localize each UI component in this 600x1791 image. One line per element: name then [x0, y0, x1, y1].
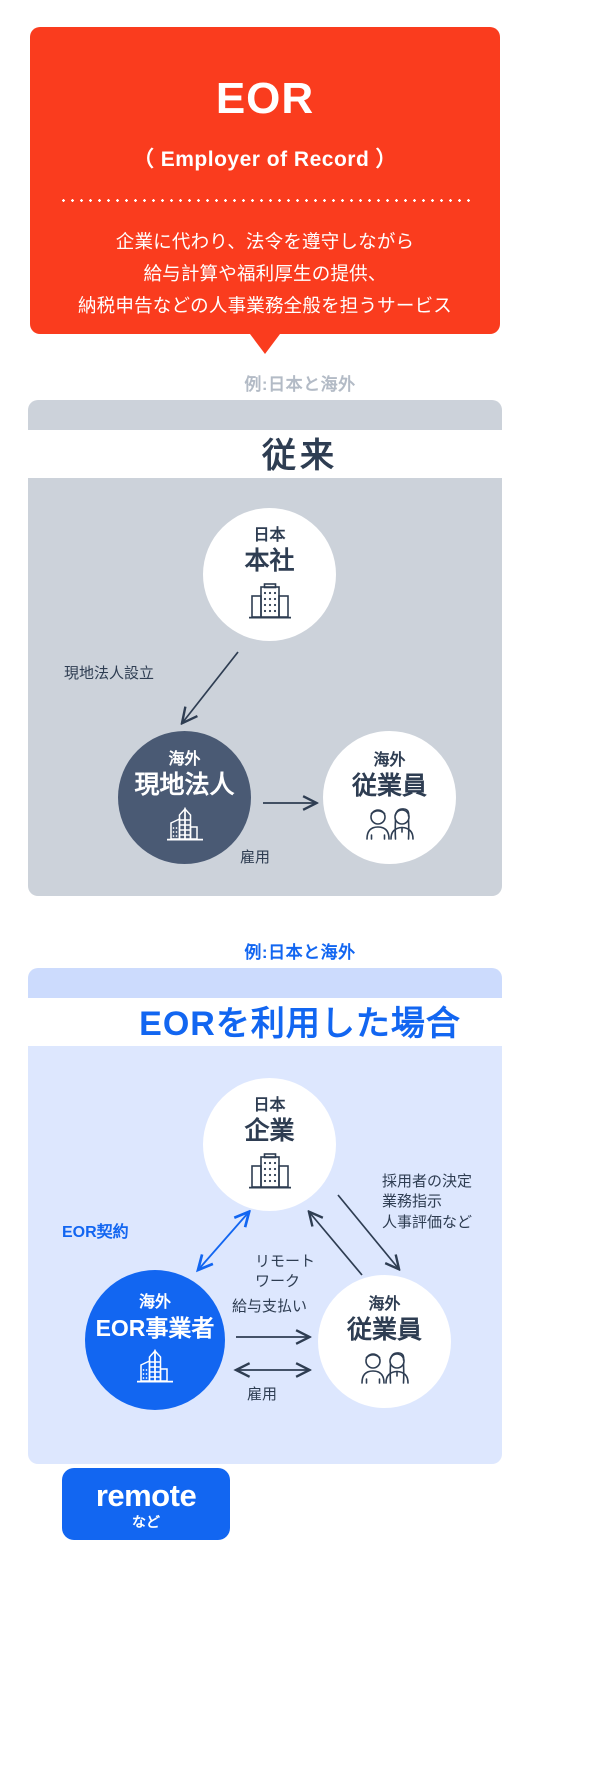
node-overseas-employees-eor: 海外 従業員 [318, 1275, 451, 1408]
node-employees-eor-country: 海外 [368, 1296, 400, 1314]
eor-panel-cap [28, 968, 502, 998]
node-hq-label: 本社 [244, 547, 294, 576]
node-employees-label: 従業員 [352, 772, 427, 801]
two-people-icon [357, 1351, 413, 1387]
office-building-icon [247, 582, 293, 622]
traditional-panel-cap [28, 400, 502, 430]
connector-label-eor-contract: EOR契約 [62, 1222, 129, 1244]
eor-title: EORを利用した場合 [0, 996, 600, 1045]
hero-description-line-3: 納税申告などの人事業務全般を担うサービス [30, 290, 500, 322]
connector-label-payroll: 給与支払い [232, 1297, 307, 1317]
connector-label-entity-setup: 現地法人設立 [64, 664, 154, 684]
node-eor-provider: 海外 EOR事業者 [85, 1270, 225, 1410]
node-japan-corporation: 日本 企業 [203, 1078, 336, 1211]
hero-subtitle: （ Employer of Record ） [30, 143, 500, 173]
skyscraper-icon [133, 1348, 177, 1386]
office-building-icon [247, 1152, 293, 1192]
node-employees-country: 海外 [373, 752, 405, 770]
node-overseas-local-entity: 海外 現地法人 [118, 731, 251, 864]
skyscraper-icon [163, 806, 207, 844]
hero-title: EOR [30, 27, 500, 121]
eor-example-label: 例:日本と海外 [0, 938, 600, 963]
infographic-page: EOR （ Employer of Record ） 企業に代わり、法令を遵守し… [0, 0, 600, 1791]
remote-logo-note: など [132, 1515, 160, 1529]
two-people-icon [362, 807, 418, 843]
connector-label-hire-traditional: 雇用 [240, 848, 270, 868]
node-eor-label: EOR事業者 [96, 1315, 215, 1341]
node-local-label: 現地法人 [134, 771, 234, 800]
traditional-title: 従来 [0, 428, 600, 477]
node-overseas-employees-traditional: 海外 従業員 [323, 731, 456, 864]
remote-logo-wordmark: remote [96, 1480, 196, 1511]
dotted-divider [59, 199, 471, 202]
traditional-example-label: 例:日本と海外 [0, 370, 600, 395]
node-corp-country: 日本 [253, 1097, 285, 1115]
node-japan-headquarters: 日本 本社 [203, 508, 336, 641]
node-corp-label: 企業 [244, 1117, 294, 1146]
eor-hero-card: EOR （ Employer of Record ） 企業に代わり、法令を遵守し… [30, 27, 500, 334]
node-employees-eor-label: 従業員 [347, 1316, 422, 1345]
hero-description-line-1: 企業に代わり、法令を遵守しながら [30, 226, 500, 258]
connector-label-company-duties: 採用者の決定 業務指示 人事評価など [382, 1172, 472, 1233]
connector-label-remote-work: リモート ワーク [255, 1252, 315, 1293]
hero-description-line-2: 給与計算や福利厚生の提供、 [30, 258, 500, 290]
node-hq-country: 日本 [253, 527, 285, 545]
hero-description: 企業に代わり、法令を遵守しながら 給与計算や福利厚生の提供、 納税申告などの人事… [30, 226, 500, 321]
node-eor-country: 海外 [139, 1294, 171, 1312]
node-local-country: 海外 [168, 751, 200, 769]
hero-pointer-arrow [250, 334, 280, 354]
connector-label-hire-eor: 雇用 [247, 1385, 277, 1405]
remote-logo-card: remote など [62, 1468, 230, 1540]
